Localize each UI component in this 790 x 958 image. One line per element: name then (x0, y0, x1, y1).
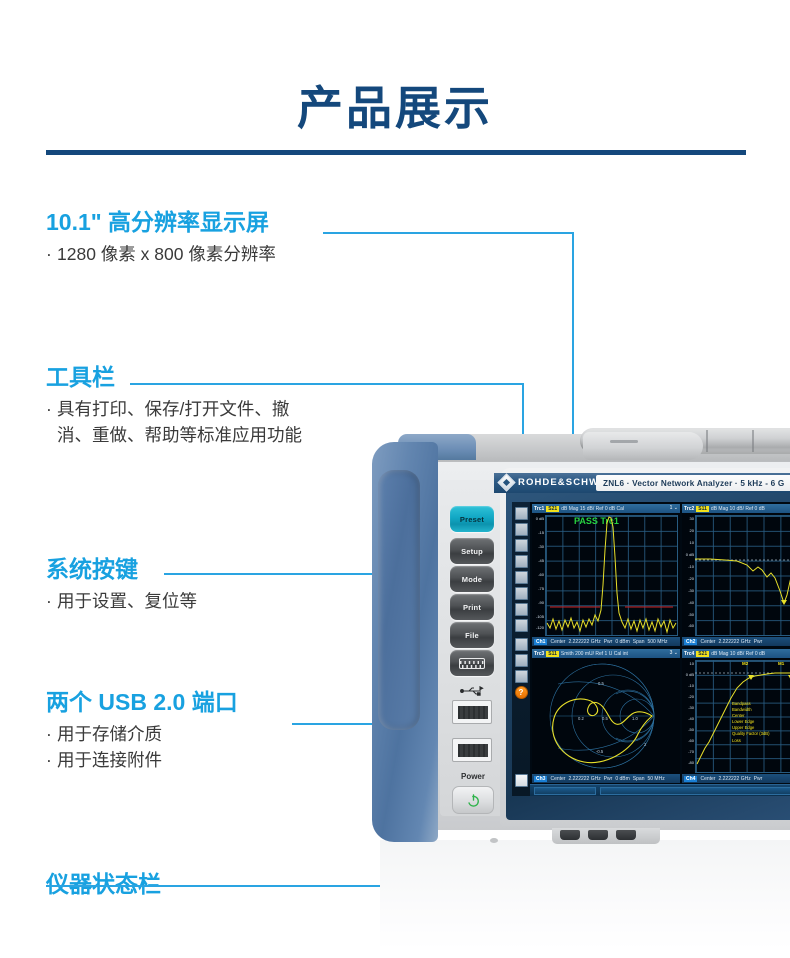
y-tick-label: -105 (532, 614, 544, 619)
center-value: 2.222222 GHz (718, 639, 750, 645)
y-tick-label: -75 (532, 586, 544, 591)
smith-chart: 0.5 0.2 0.5 1.0 -0.5 2 (534, 660, 678, 772)
plot-trc2-footer: Ch2 Center 2.222222 GHz Pwr (682, 637, 790, 646)
callout-usb-heading: 两个 USB 2.0 端口 (46, 690, 238, 715)
cursor-help-icon[interactable] (515, 670, 528, 683)
list-item-text: 用于设置、复位等 (57, 591, 197, 611)
open-folder-icon[interactable] (515, 523, 528, 536)
bullet-icon: · (46, 748, 57, 773)
bandpass-row: Quality Factor (3dB) (732, 731, 769, 737)
svg-text:-0.5: -0.5 (596, 749, 604, 754)
s-parameter-badge: S11 (696, 506, 709, 512)
list-item-text: 用于连接附件 (57, 750, 162, 770)
center-label: Center (700, 639, 715, 645)
y-tick-label: 10 (682, 661, 694, 666)
y-tick-label: 10 (682, 540, 694, 545)
bullet-icon: · (46, 722, 57, 747)
plot-trc3-header: Trc3 S11 Smith 200 mU/ Ref 1 U Cal int 3… (532, 649, 680, 658)
trace-format-label: dB Mag 10 dB/ Ref 0 dB (711, 506, 765, 512)
center-value: 2.222222 GHz (568, 776, 600, 782)
y-tick-label: -60 (532, 572, 544, 577)
list-item: ·1280 像素 x 800 像素分辨率 (46, 242, 276, 267)
power-label: Pwr (604, 776, 613, 782)
bullet-icon: · (46, 242, 57, 267)
print-icon[interactable] (515, 507, 528, 520)
instrument-status-bar[interactable] (530, 784, 790, 796)
y-tick-label: 0 dB (532, 516, 544, 521)
keyboard-icon (459, 658, 485, 669)
y-tick-label: 20 (682, 528, 694, 533)
carry-handle-notch (610, 440, 638, 443)
span-label: Span (633, 639, 645, 645)
power-value: 0 dBm (615, 776, 629, 782)
chassis-screw (490, 838, 498, 843)
list-item-text: 消、重做、帮助等标准应用功能 (57, 425, 302, 445)
status-bar-item[interactable] (600, 787, 790, 795)
y-tick-label: -90 (532, 600, 544, 605)
channel-badge: Ch4 (684, 776, 697, 782)
y-tick-label: -50 (682, 727, 694, 732)
bandpass-stats-table: Bandpass Bandwidth Center Lower Edge Upp… (732, 701, 769, 744)
y-tick-label: -40 (682, 716, 694, 721)
power-label: Power (445, 772, 501, 781)
product-showcase-page: 产品展示 10.1" 高分辨率显示屏 ·1280 像素 x 800 像素分辨率 … (0, 0, 790, 958)
trace-label: Trc2 (684, 506, 694, 512)
title-divider (46, 150, 746, 155)
svg-text:0.5: 0.5 (602, 716, 608, 721)
callout-toolbar-heading: 工具栏 (46, 365, 302, 390)
windows-start-icon[interactable] (515, 774, 528, 787)
window-number: 1 ⌄ (670, 505, 678, 511)
y-tick-label: -30 (682, 588, 694, 593)
s-parameter-badge: S21 (696, 651, 709, 657)
help-icon[interactable]: ? (515, 686, 528, 699)
channel-badge: Ch2 (684, 639, 697, 645)
s-parameter-badge: S21 (546, 506, 559, 512)
list-item: ·具有打印、保存/打开文件、撤 (46, 397, 302, 422)
plot-trc3-footer: Ch3 Center 2.222222 GHz Pwr 0 dBm Span 5… (532, 774, 680, 783)
y-tick-label: 30 (682, 516, 694, 521)
zoom-in-icon[interactable] (515, 587, 528, 600)
span-value: 50 MHz (647, 776, 664, 782)
leader-line-display-h (323, 232, 573, 234)
callout-display: 10.1" 高分辨率显示屏 ·1280 像素 x 800 像素分辨率 (46, 210, 276, 268)
handle-seam (752, 430, 754, 452)
plot-trc1-header: Trc1 S21 dB Mag 15 dB/ Ref 0 dB Cal 1 ⌄ (532, 504, 680, 513)
bandpass-row: Loss (732, 738, 769, 744)
leader-line-toolbar-h (130, 383, 523, 385)
y-tick-label: -50 (682, 612, 694, 617)
foot-notch (588, 830, 608, 840)
redo-arrow-icon[interactable] (515, 571, 528, 584)
callout-usb-ports: 两个 USB 2.0 端口 ·用于存储介质 ·用于连接附件 (46, 690, 238, 773)
y-tick-label: -60 (682, 623, 694, 628)
y-tick-label: -30 (532, 544, 544, 549)
y-tick-label: -40 (682, 600, 694, 605)
plot-trc4-header: Trc4 S21 dB Mag 10 dB/ Ref 0 dB (682, 649, 790, 658)
list-item-text: 用于存储介质 (57, 724, 162, 744)
plot-trc2[interactable]: Trc2 S11 dB Mag 10 dB/ Ref 0 dB 30 20 10… (682, 504, 790, 646)
usb-symbol-icon (459, 686, 485, 696)
side-bumper-grip (378, 470, 420, 730)
file-button[interactable]: File (450, 622, 494, 648)
y-tick-label: 0 dB (682, 672, 694, 677)
y-tick-label: -30 (682, 705, 694, 710)
y-tick-label: -10 (682, 564, 694, 569)
bullet-icon: · (46, 397, 57, 422)
power-button[interactable] (452, 786, 494, 814)
mode-button[interactable]: Mode (450, 566, 494, 592)
callout-toolbar: 工具栏 ·具有打印、保存/打开文件、撤 消、重做、帮助等标准应用功能 (46, 365, 302, 448)
y-tick-label: -70 (682, 749, 694, 754)
trace-label: Trc1 (534, 506, 544, 512)
window-icon[interactable] (515, 638, 528, 651)
plot-trc3[interactable]: Trc3 S11 Smith 200 mU/ Ref 1 U Cal int 3… (532, 649, 680, 783)
trace-label: Trc4 (684, 651, 694, 657)
refresh-icon[interactable] (515, 654, 528, 667)
center-value: 2.222222 GHz (568, 639, 600, 645)
plot-trc4[interactable]: Trc4 S21 dB Mag 10 dB/ Ref 0 dB 10 0 dB … (682, 649, 790, 783)
s-parameter-badge: S11 (546, 651, 559, 657)
usb-port-1[interactable] (452, 700, 492, 724)
power-label: Pwr (754, 776, 763, 782)
save-disk-icon[interactable] (515, 539, 528, 552)
list-item: ·用于设置、复位等 (46, 589, 197, 614)
callout-toolbar-list: ·具有打印、保存/打开文件、撤 消、重做、帮助等标准应用功能 (46, 397, 302, 448)
bullet-icon: · (46, 589, 57, 614)
plot-trc4-footer: Ch4 Center 2.222222 GHz Pwr (682, 774, 790, 783)
magnifier-icon[interactable] (515, 619, 528, 632)
callout-system-keys-heading: 系统按键 (46, 557, 197, 582)
trace-format-label: Smith 200 mU/ Ref 1 U Cal int (561, 651, 628, 657)
plot-trc1[interactable]: Trc1 S21 dB Mag 15 dB/ Ref 0 dB Cal 1 ⌄ … (532, 504, 680, 646)
plot-trc2-trace (695, 515, 790, 636)
preset-button[interactable]: Preset (450, 506, 494, 532)
y-tick-label: -10 (682, 683, 694, 688)
callout-system-keys: 系统按键 ·用于设置、复位等 (46, 557, 197, 615)
list-item: ·用于存储介质 (46, 722, 238, 747)
y-tick-label: -80 (682, 760, 694, 765)
page-title: 产品展示 (0, 72, 790, 138)
power-label: Pwr (754, 639, 763, 645)
span-value: 500 MHz (647, 639, 667, 645)
handle-seam (706, 430, 708, 452)
power-value: 0 dBm (615, 639, 629, 645)
power-label: Pwr (604, 639, 613, 645)
channel-badge: Ch3 (534, 776, 547, 782)
svg-text:0.2: 0.2 (578, 716, 584, 721)
y-tick-label: -20 (682, 576, 694, 581)
window-number: 3 ⌄ (670, 650, 678, 656)
callout-display-heading: 10.1" 高分辨率显示屏 (46, 210, 276, 235)
y-tick-label: -60 (682, 738, 694, 743)
y-tick-label: -20 (682, 694, 694, 699)
list-item-text: 1280 像素 x 800 像素分辨率 (57, 244, 276, 264)
y-tick-label: -15 (532, 530, 544, 535)
list-item-text: 具有打印、保存/打开文件、撤 (57, 399, 289, 419)
callout-usb-list: ·用于存储介质 ·用于连接附件 (46, 722, 238, 773)
foot-notch (560, 830, 580, 840)
keyboard-button[interactable] (450, 650, 494, 676)
plot-trc2-header: Trc2 S11 dB Mag 10 dB/ Ref 0 dB (682, 504, 790, 513)
y-tick-label: 0 dB (682, 552, 694, 557)
trace-format-label: dB Mag 10 dB/ Ref 0 dB (711, 651, 765, 657)
application-toolbar[interactable]: ? (512, 502, 530, 796)
side-bumper (372, 442, 438, 842)
svg-text:0.5: 0.5 (598, 681, 604, 686)
zoom-out-icon[interactable] (515, 603, 528, 616)
list-item: 消、重做、帮助等标准应用功能 (46, 423, 302, 448)
print-button[interactable]: Print (450, 594, 494, 620)
instrument-display[interactable]: ? Trc1 S21 dB Mag 15 dB/ Ref 0 dB Cal 1 … (512, 502, 790, 796)
callout-display-list: ·1280 像素 x 800 像素分辨率 (46, 242, 276, 267)
reflective-floor (380, 840, 790, 950)
center-label: Center (700, 776, 715, 782)
model-plate: ZNL6 · Vector Network Analyzer · 5 kHz -… (596, 475, 790, 491)
trace-format-label: dB Mag 15 dB/ Ref 0 dB Cal (561, 506, 624, 512)
y-tick-label: -45 (532, 558, 544, 563)
plot-trc1-trace (545, 515, 678, 636)
setup-button[interactable]: Setup (450, 538, 494, 564)
status-bar-item[interactable] (534, 787, 596, 795)
center-label: Center (550, 639, 565, 645)
carry-handle-hub (583, 432, 703, 460)
callout-system-keys-list: ·用于设置、复位等 (46, 589, 197, 614)
span-label: Span (633, 776, 645, 782)
svg-text:1.0: 1.0 (632, 716, 638, 721)
center-label: Center (550, 776, 565, 782)
list-item: ·用于连接附件 (46, 748, 238, 773)
foot-notch (616, 830, 636, 840)
power-icon (466, 793, 481, 808)
trace-label: Trc3 (534, 651, 544, 657)
plot-trc1-footer: Ch1 Center 2.222222 GHz Pwr 0 dBm Span 5… (532, 637, 680, 646)
usb-port-2[interactable] (452, 738, 492, 762)
undo-arrow-icon[interactable] (515, 555, 528, 568)
center-value: 2.222222 GHz (718, 776, 750, 782)
channel-badge: Ch1 (534, 639, 547, 645)
y-tick-label: -120 (532, 625, 544, 630)
